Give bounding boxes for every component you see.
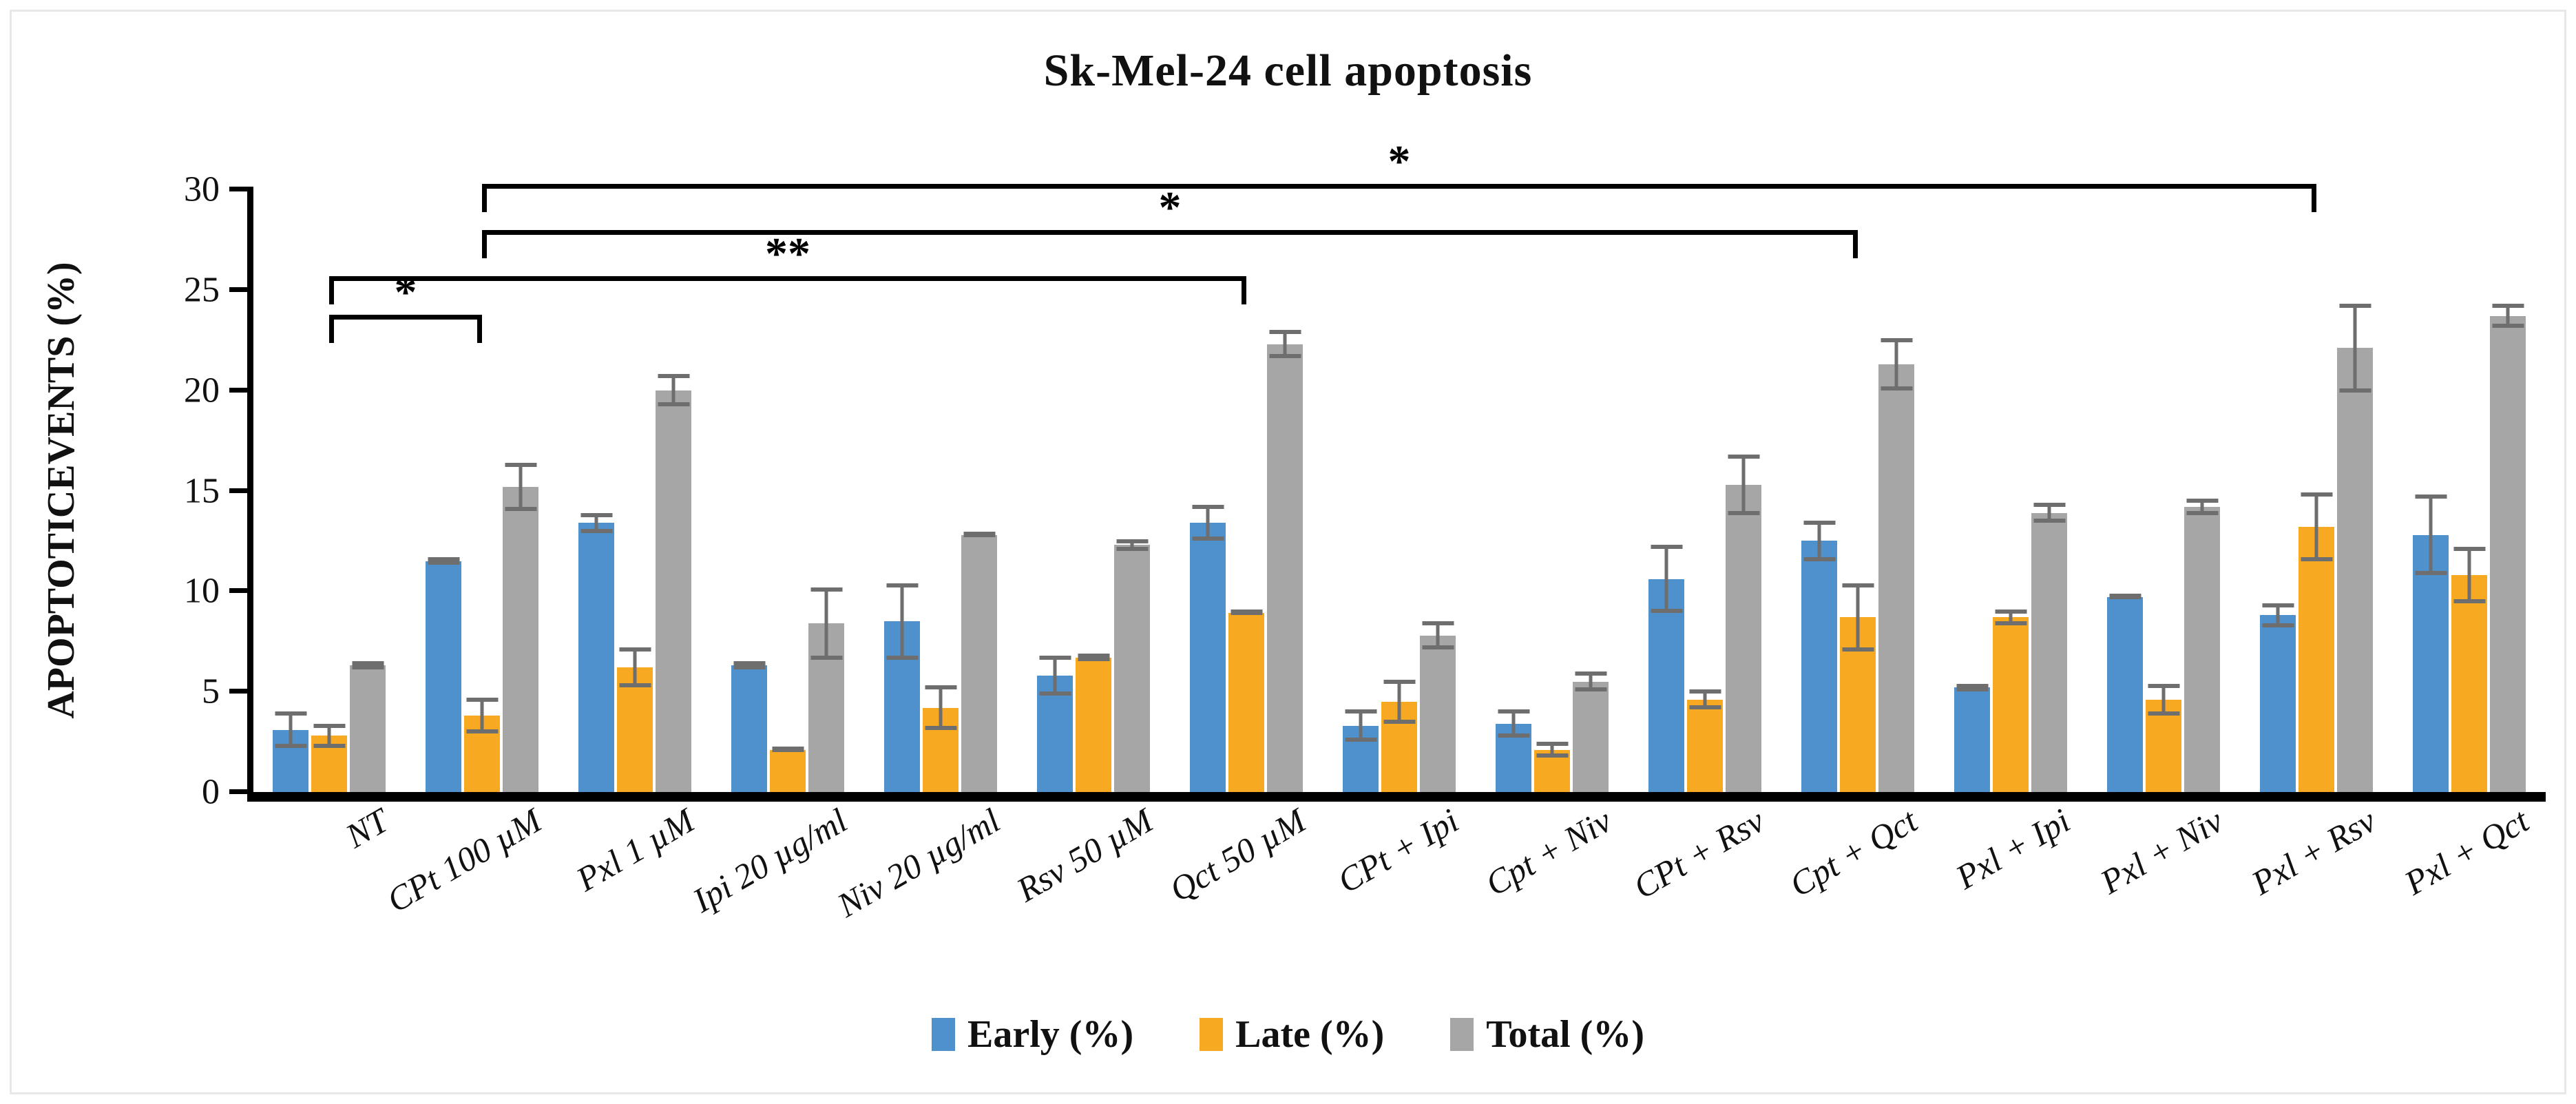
bar-early [1954, 687, 1990, 792]
significance-marker: * [1388, 139, 1411, 185]
y-axis-tick-label: 10 [184, 571, 220, 612]
bar-total [2184, 507, 2220, 792]
legend-item[interactable]: Late (%) [1200, 1012, 1384, 1056]
y-axis-tick-label: 30 [184, 169, 220, 210]
bar-late [770, 750, 806, 792]
bar-group [558, 189, 711, 792]
bar-slot [1228, 189, 1264, 792]
bar-slot [1801, 189, 1837, 792]
bar-late [2451, 575, 2487, 792]
y-axis-tick [229, 588, 249, 593]
bar-slot [1076, 189, 1111, 792]
legend-label: Early (%) [967, 1012, 1133, 1056]
x-axis-tick-label: Cpt + Niv [1478, 800, 1618, 904]
legend-label: Late (%) [1235, 1012, 1384, 1056]
bar-late [1076, 658, 1111, 792]
y-axis-tick [229, 488, 249, 493]
bar-slot [350, 189, 386, 792]
bar-slot [1496, 189, 1531, 792]
bar-total [1726, 485, 1761, 792]
bar-group [253, 189, 406, 792]
bar-total [503, 487, 538, 792]
x-axis-tick-label: Qct 50 µM [1162, 800, 1312, 910]
bar-group [406, 189, 558, 792]
bar-slot [2451, 189, 2487, 792]
bar-slot [1343, 189, 1379, 792]
bar-late [1228, 613, 1264, 792]
bar-slot [731, 189, 767, 792]
legend-item[interactable]: Early (%) [932, 1012, 1133, 1056]
x-axis-tick-label: Pxl + Niv [2093, 800, 2230, 902]
bar-slot [1993, 189, 2029, 792]
bar-slot [273, 189, 308, 792]
bar-group [2087, 189, 2240, 792]
bar-slot [1534, 189, 1570, 792]
x-axis-tick-label: Rsv 50 µM [1009, 800, 1159, 910]
bar-early [731, 665, 767, 792]
y-axis-tick-label: 25 [184, 269, 220, 310]
bar-total [1573, 682, 1609, 792]
x-axis-tick-label: CPt 100 µM [380, 800, 548, 920]
bar-slot [578, 189, 614, 792]
y-axis-tick [229, 689, 249, 694]
bar-early [2107, 597, 2143, 792]
bar-slot [2413, 189, 2449, 792]
x-axis-tick-label: Cpt + Qct [1783, 800, 1924, 905]
bar-slot [1687, 189, 1723, 792]
figure-container: Sk-Mel-24 cell apoptosis APOPTOTICEVENTS… [0, 0, 2576, 1104]
y-axis-tick [229, 187, 249, 191]
bar-early [2260, 615, 2296, 792]
x-axis-tick-label: Ipi 20 µg/ml [686, 800, 854, 920]
bar-slot [1954, 189, 1990, 792]
bar-late [617, 667, 653, 792]
y-axis-tick-label: 20 [184, 370, 220, 410]
y-axis-tick [229, 789, 249, 794]
bar-slot [1381, 189, 1417, 792]
bar-slot [2184, 189, 2220, 792]
x-axis-tick-label: Niv 20 µg/ml [830, 800, 1007, 925]
bar-late [2298, 527, 2334, 792]
bar-late [311, 736, 347, 792]
bar-slot [884, 189, 920, 792]
bar-late [1993, 617, 2029, 792]
bar-group [1629, 189, 1781, 792]
figure-panel: Sk-Mel-24 cell apoptosis APOPTOTICEVENTS… [10, 10, 2566, 1094]
bar-group [2240, 189, 2393, 792]
bar-late [1687, 700, 1723, 792]
bar-slot [2031, 189, 2067, 792]
x-axis-tick-label: CPt + Rsv [1626, 800, 1771, 907]
x-axis-tick-label: Pxl + Rsv [2244, 800, 2382, 903]
bar-group [1170, 189, 1323, 792]
bar-slot [503, 189, 538, 792]
bar-early [1190, 523, 1226, 792]
bar-slot [1267, 189, 1303, 792]
bar-total [961, 535, 997, 792]
bar-slot [1648, 189, 1684, 792]
bar-slot [426, 189, 461, 792]
legend-label: Total (%) [1486, 1012, 1644, 1056]
bar-slot [1037, 189, 1073, 792]
bar-group [1781, 189, 1934, 792]
bar-slot [923, 189, 959, 792]
bar-late [1840, 617, 1876, 792]
bar-early [884, 621, 920, 792]
bar-early [1648, 579, 1684, 792]
bar-early [578, 523, 614, 792]
bar-total [1878, 364, 1914, 792]
bar-slot [2337, 189, 2373, 792]
y-axis-title: APOPTOTICEVENTS (%) [39, 262, 83, 718]
legend-swatch-icon [932, 1018, 955, 1051]
bar-total [808, 623, 844, 792]
bar-group [1476, 189, 1629, 792]
bar-total [1114, 545, 1150, 792]
bar-slot [1573, 189, 1609, 792]
x-axis-tick-label: CPt + Ipi [1330, 800, 1465, 901]
x-axis-tick-label: Pxl + Ipi [1949, 800, 2077, 897]
plot-area: 051015202530 ***** [253, 189, 2546, 792]
bar-slot [617, 189, 653, 792]
bar-group [2393, 189, 2546, 792]
bar-early [1037, 676, 1073, 792]
bar-total [2490, 316, 2526, 792]
bar-slot [2146, 189, 2181, 792]
x-axis-tick-label: Pxl 1 µM [569, 800, 701, 899]
y-axis-tick-label: 0 [202, 772, 220, 813]
bar-slot [1190, 189, 1226, 792]
legend-swatch-icon [1450, 1018, 1474, 1051]
bar-late [923, 708, 959, 793]
y-axis-tick [229, 388, 249, 393]
x-axis-tick-label: NT [339, 800, 395, 856]
y-axis-tick-label: 5 [202, 671, 220, 712]
legend-swatch-icon [1200, 1018, 1223, 1051]
chart-legend: Early (%)Late (%)Total (%) [12, 1012, 2564, 1056]
bar-slot [1840, 189, 1876, 792]
bar-slot [1114, 189, 1150, 792]
bar-early [273, 730, 308, 792]
bar-slot [961, 189, 997, 792]
bar-late [1381, 702, 1417, 792]
bar-slot [2260, 189, 2296, 792]
bar-slot [1726, 189, 1761, 792]
bar-group [1017, 189, 1170, 792]
chart-title: Sk-Mel-24 cell apoptosis [12, 45, 2564, 97]
x-axis-tick-label: Pxl + Qct [2397, 800, 2535, 903]
y-axis-tick [229, 287, 249, 292]
bar-slot [1420, 189, 1456, 792]
legend-item[interactable]: Total (%) [1450, 1012, 1644, 1056]
bar-slot [1878, 189, 1914, 792]
bar-total [2031, 513, 2067, 792]
bar-early [426, 561, 461, 792]
x-axis-labels: NTCPt 100 µMPxl 1 µMIpi 20 µg/mlNiv 20 µ… [253, 800, 2546, 1007]
bar-total [2337, 348, 2373, 792]
bar-early [1496, 724, 1531, 792]
bar-slot [464, 189, 500, 792]
bar-slot [2107, 189, 2143, 792]
bar-slot [656, 189, 691, 792]
bar-total [1420, 636, 1456, 793]
bar-early [1343, 726, 1379, 792]
bar-slot [770, 189, 806, 792]
bar-group [1323, 189, 1476, 792]
bar-early [1801, 541, 1837, 792]
bar-late [1534, 750, 1570, 792]
bar-slot [311, 189, 347, 792]
bar-group [1934, 189, 2087, 792]
bar-late [464, 716, 500, 792]
y-axis-tick-label: 15 [184, 470, 220, 511]
bar-total [350, 665, 386, 792]
bar-group [711, 189, 864, 792]
bar-total [656, 390, 691, 792]
bar-slot [2298, 189, 2334, 792]
bar-late [2146, 700, 2181, 792]
bar-total [1267, 344, 1303, 792]
bar-groups [253, 189, 2546, 792]
bar-slot [808, 189, 844, 792]
bar-early [2413, 535, 2449, 792]
bar-slot [2490, 189, 2526, 792]
bar-group [864, 189, 1017, 792]
